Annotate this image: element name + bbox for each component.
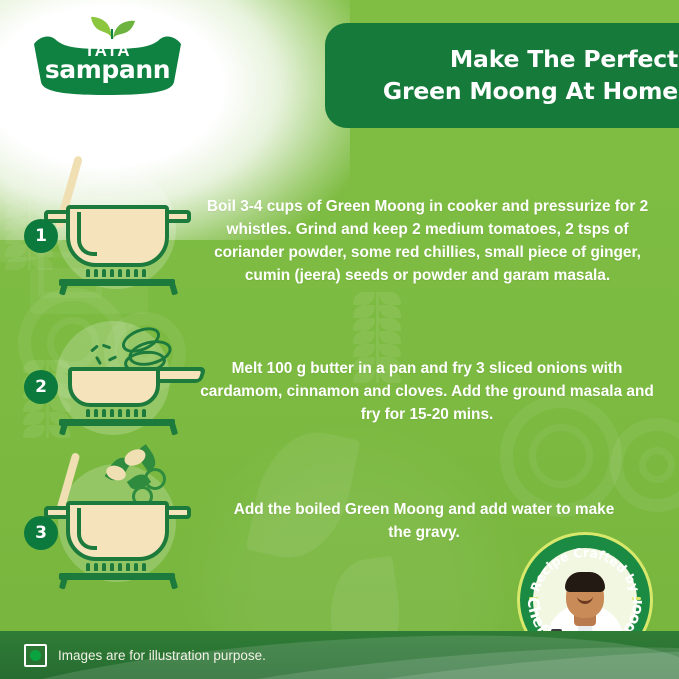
step-3-badge: 3	[24, 516, 58, 550]
stove-bar	[59, 419, 175, 426]
frying-pan-icon	[68, 367, 160, 407]
title-line-2: Green Moong At Home	[383, 77, 678, 105]
step-1-text: Boil 3-4 cups of Green Moong in cooker a…	[190, 195, 665, 287]
step-2-number: 2	[35, 377, 47, 397]
step-3-number: 3	[35, 523, 47, 543]
step-2-text: Melt 100 g butter in a pan and fry 3 sli…	[196, 357, 658, 426]
vegetarian-mark-icon	[24, 644, 47, 667]
footer-bar: Images are for illustration purpose.	[0, 631, 679, 679]
step-2: 2 Melt 100 g butter in a pan and fry 3 s…	[0, 315, 679, 440]
flame-row-icon	[86, 563, 146, 571]
stove-bar	[59, 573, 175, 580]
spoon-in-pot	[77, 508, 97, 550]
brand-logo: TATA sampann	[34, 17, 181, 95]
title-line-1: Make The Perfect	[450, 45, 678, 73]
step-1: 1 Boil 3-4 cups of Green Moong in cooker…	[0, 155, 679, 305]
flame-row-icon	[86, 409, 146, 417]
stove-leg	[168, 278, 178, 295]
step-2-badge: 2	[24, 370, 58, 404]
logo-sampann-text: sampann	[34, 57, 181, 82]
stove-leg	[168, 572, 178, 589]
header-banner: Make The Perfect Green Moong At Home	[325, 23, 679, 128]
page-title: Make The Perfect Green Moong At Home	[325, 44, 679, 107]
recipe-poster: TATA sampann Make The Perfect Green Moon…	[0, 0, 679, 679]
spoon-in-pot	[77, 212, 97, 256]
chef-badge-top-text: Recipe Crafted by	[527, 545, 643, 594]
stove-leg	[168, 418, 178, 435]
flame-row-icon	[86, 269, 146, 277]
stove-bar	[59, 279, 175, 286]
step-3-illustration	[28, 440, 208, 590]
footer-note: Images are for illustration purpose.	[58, 648, 266, 663]
footer-content: Images are for illustration purpose.	[24, 631, 266, 679]
sprout-icon	[90, 13, 136, 39]
step-1-number: 1	[35, 226, 47, 246]
step-1-badge: 1	[24, 219, 58, 253]
